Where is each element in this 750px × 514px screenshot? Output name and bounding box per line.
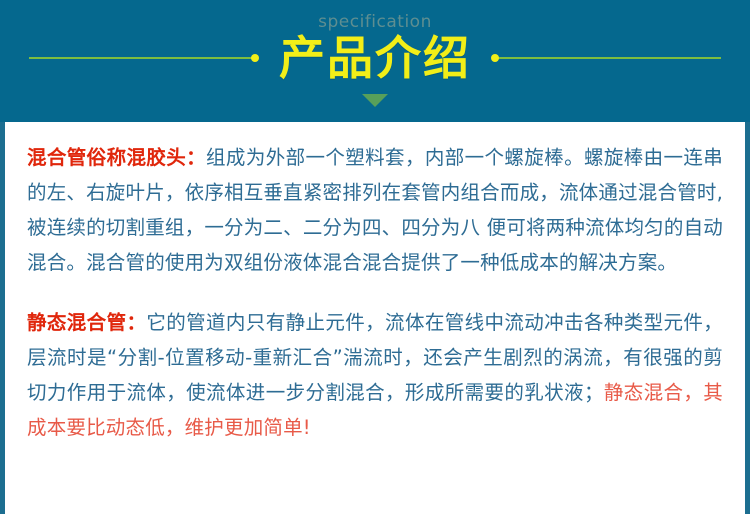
paragraph-static-mixer: 静态混合管：它的管道内只有静止元件，流体在管线中流动冲击各种类型元件，层流时是“… xyxy=(27,305,723,445)
product-introduction-page: specification 产品介绍 混合管俗称混胶头：组成为外部一个塑料套，内… xyxy=(0,0,750,514)
rule-dot-left-icon xyxy=(251,54,259,62)
paragraph-lead-label: 混合管俗称混胶头： xyxy=(27,146,206,169)
decorative-rule-left xyxy=(29,57,257,59)
rule-dot-right-icon xyxy=(491,54,499,62)
banner-title-row: 产品介绍 xyxy=(0,27,750,89)
paragraph-mixing-tube: 混合管俗称混胶头：组成为外部一个塑料套，内部一个螺旋棒。螺旋棒由一连串的左、右旋… xyxy=(27,140,723,280)
page-title: 产品介绍 xyxy=(257,27,493,89)
chevron-down-icon xyxy=(362,94,388,107)
description-body: 混合管俗称混胶头：组成为外部一个塑料套，内部一个螺旋棒。螺旋棒由一连串的左、右旋… xyxy=(0,122,750,514)
section-banner: specification 产品介绍 xyxy=(0,0,750,122)
decorative-rule-right xyxy=(493,57,721,59)
paragraph-lead-label: 静态混合管： xyxy=(27,311,146,334)
